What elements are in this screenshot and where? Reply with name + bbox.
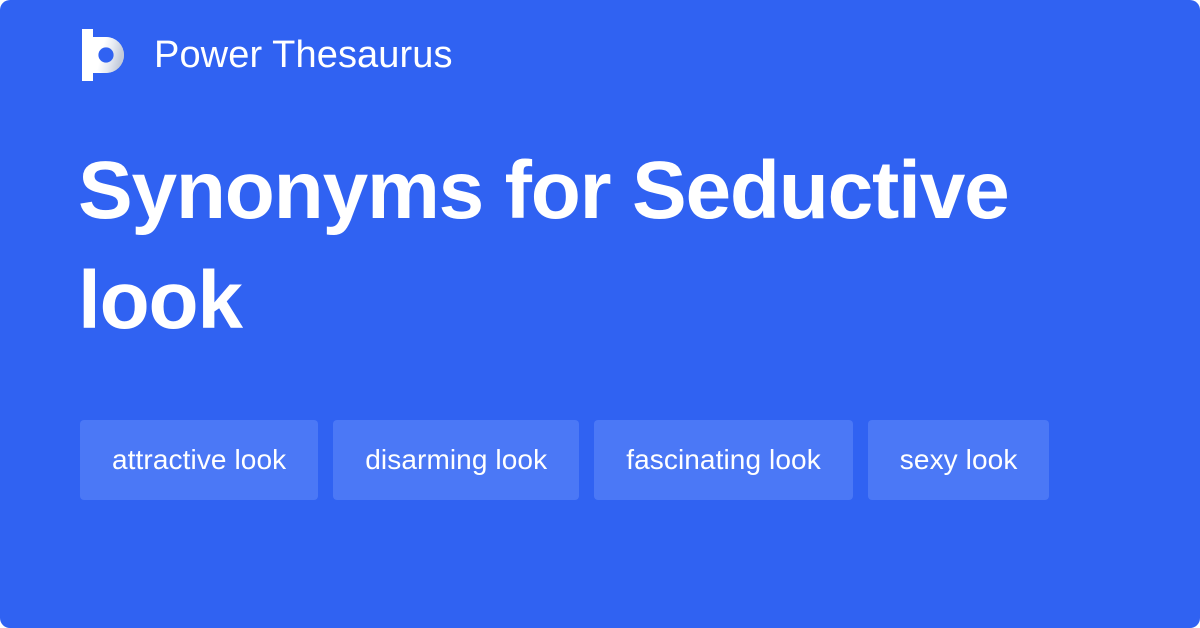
synonym-chip[interactable]: fascinating look: [594, 420, 853, 500]
synonym-chip-list: attractive look disarming look fascinati…: [80, 420, 1130, 500]
power-thesaurus-logo-icon: [80, 29, 132, 81]
synonym-chip[interactable]: attractive look: [80, 420, 318, 500]
brand-name: Power Thesaurus: [154, 36, 453, 74]
synonym-chip[interactable]: sexy look: [868, 420, 1050, 500]
brand-header[interactable]: Power Thesaurus: [80, 27, 453, 83]
og-card: Power Thesaurus Synonyms for Seductive l…: [0, 0, 1200, 628]
page-title: Synonyms for Seductive look: [78, 136, 1088, 356]
synonym-chip[interactable]: disarming look: [333, 420, 579, 500]
